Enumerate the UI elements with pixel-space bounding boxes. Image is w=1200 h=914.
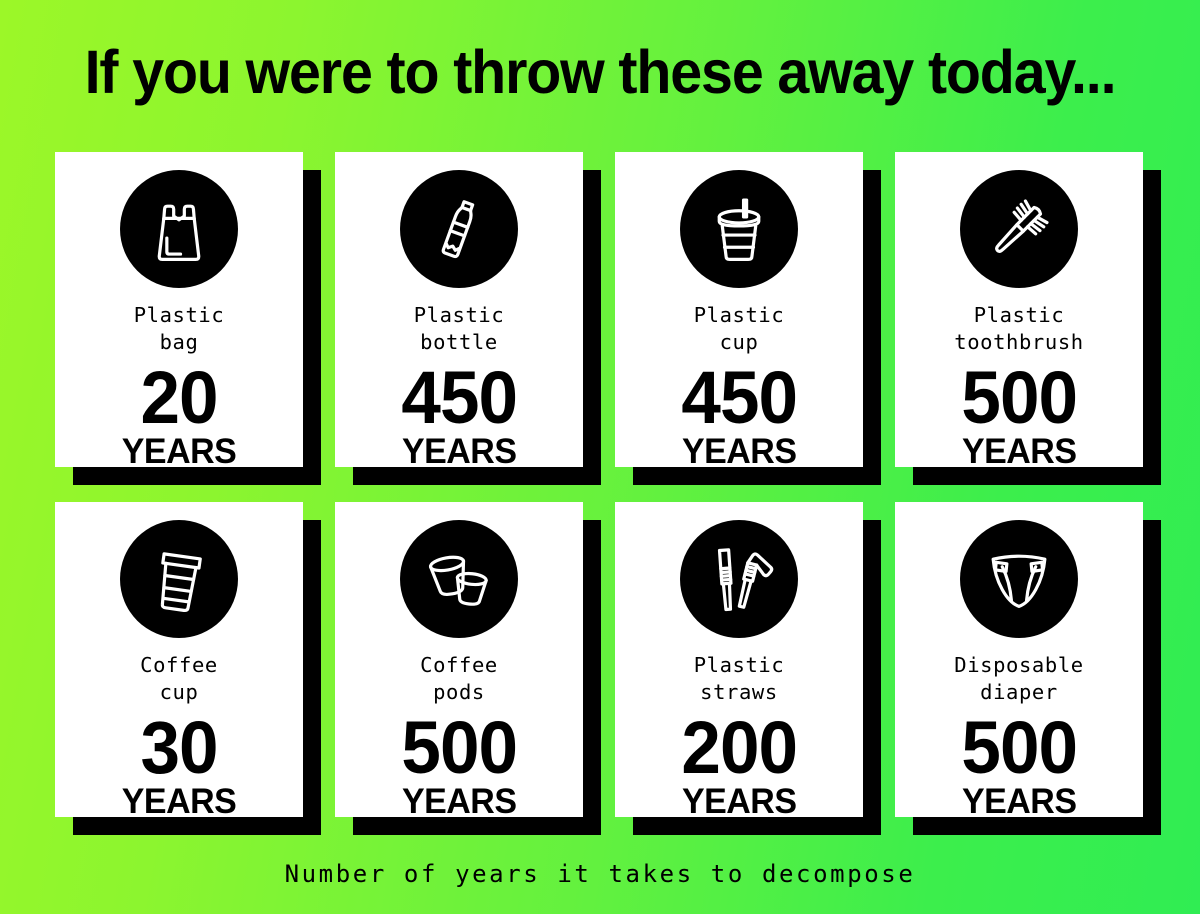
card-unit: YEARS: [681, 784, 798, 819]
disposable-diaper-icon: [960, 520, 1078, 638]
card-value: 500: [961, 714, 1077, 782]
card-figure: 200 YEARS: [679, 714, 799, 819]
card-label: Plastic toothbrush: [954, 302, 1083, 356]
card-value: 450: [401, 364, 517, 432]
card-disposable-diaper[interactable]: Disposable diaper 500 YEARS: [895, 502, 1143, 817]
plastic-straws-icon: [680, 520, 798, 638]
plastic-toothbrush-icon: [960, 170, 1078, 288]
card-figure: 500 YEARS: [399, 714, 519, 819]
card-unit: YEARS: [122, 784, 237, 819]
card-body: Plastic bottle 450 YEARS: [335, 152, 583, 467]
card-label: Coffee pods: [420, 652, 498, 706]
card-body: Disposable diaper 500 YEARS: [895, 502, 1143, 817]
card-figure: 500 YEARS: [959, 364, 1079, 469]
card-value: 200: [681, 714, 797, 782]
card-figure: 20 YEARS: [120, 364, 238, 469]
card-body: Coffee pods 500 YEARS: [335, 502, 583, 817]
card-figure: 450 YEARS: [679, 364, 799, 469]
card-value: 500: [961, 364, 1077, 432]
card-label: Disposable diaper: [954, 652, 1083, 706]
card-value: 450: [681, 364, 797, 432]
plastic-bottle-icon: [400, 170, 518, 288]
card-plastic-bottle[interactable]: Plastic bottle 450 YEARS: [335, 152, 583, 467]
card-body: Plastic straws 200 YEARS: [615, 502, 863, 817]
card-plastic-bag[interactable]: Plastic bag 20 YEARS: [55, 152, 303, 467]
card-body: Plastic cup 450 YEARS: [615, 152, 863, 467]
card-plastic-straws[interactable]: Plastic straws 200 YEARS: [615, 502, 863, 817]
card-label: Plastic bag: [134, 302, 225, 356]
card-label: Plastic cup: [694, 302, 785, 356]
card-unit: YEARS: [961, 784, 1078, 819]
card-label: Coffee cup: [140, 652, 218, 706]
plastic-bag-icon: [120, 170, 238, 288]
card-body: Coffee cup 30 YEARS: [55, 502, 303, 817]
card-value: 500: [401, 714, 517, 782]
plastic-cup-icon: [680, 170, 798, 288]
cards-grid: Plastic bag 20 YEARS: [55, 152, 1145, 817]
card-label: Plastic straws: [694, 652, 785, 706]
card-plastic-toothbrush[interactable]: Plastic toothbrush 500 YEARS: [895, 152, 1143, 467]
card-body: Plastic toothbrush 500 YEARS: [895, 152, 1143, 467]
card-figure: 30 YEARS: [120, 714, 238, 819]
card-unit: YEARS: [122, 434, 237, 469]
card-figure: 500 YEARS: [959, 714, 1079, 819]
coffee-pods-icon: [400, 520, 518, 638]
footer-caption: Number of years it takes to decompose: [0, 860, 1200, 888]
card-unit: YEARS: [961, 434, 1078, 469]
card-figure: 450 YEARS: [399, 364, 519, 469]
card-unit: YEARS: [401, 784, 518, 819]
card-coffee-cup[interactable]: Coffee cup 30 YEARS: [55, 502, 303, 817]
card-plastic-cup[interactable]: Plastic cup 450 YEARS: [615, 152, 863, 467]
card-value: 20: [122, 364, 235, 432]
card-label: Plastic bottle: [414, 302, 505, 356]
page-title: If you were to throw these away today...: [36, 40, 1164, 104]
card-unit: YEARS: [681, 434, 798, 469]
card-body: Plastic bag 20 YEARS: [55, 152, 303, 467]
card-coffee-pods[interactable]: Coffee pods 500 YEARS: [335, 502, 583, 817]
infographic-canvas: If you were to throw these away today...…: [0, 0, 1200, 914]
coffee-cup-icon: [120, 520, 238, 638]
card-value: 30: [122, 714, 235, 782]
card-unit: YEARS: [401, 434, 518, 469]
